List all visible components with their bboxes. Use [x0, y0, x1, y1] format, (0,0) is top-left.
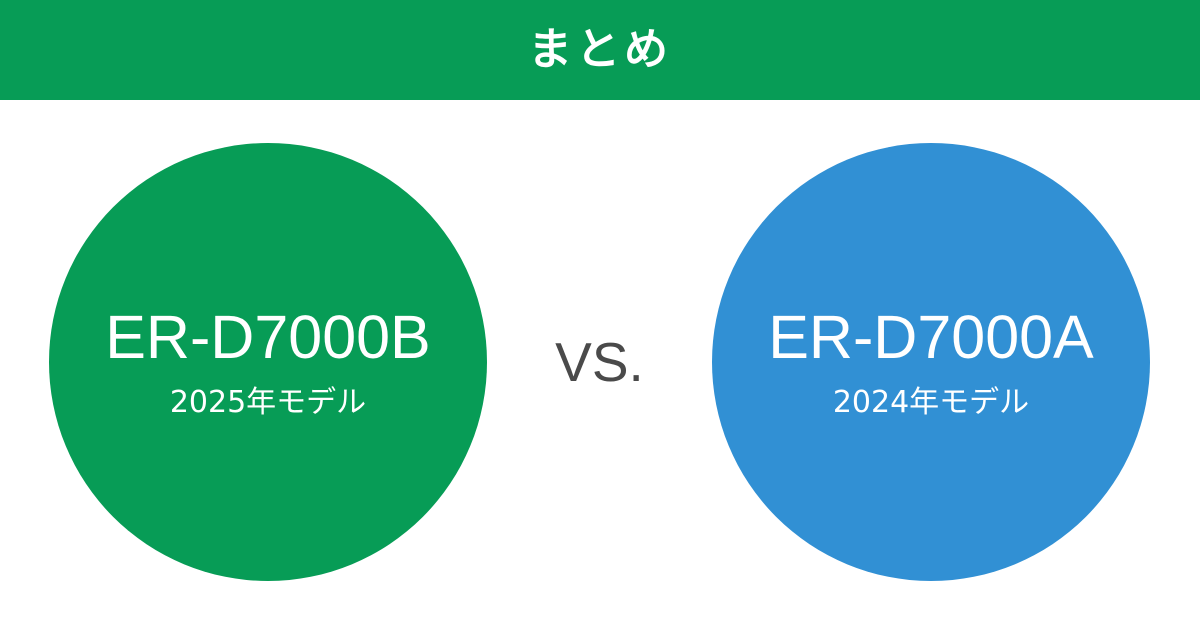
model-name-right: ER-D7000A — [768, 307, 1094, 368]
vs-label: VS. — [487, 143, 712, 581]
model-name-left: ER-D7000B — [105, 307, 431, 368]
model-year-right: 2024年モデル — [833, 388, 1029, 418]
header-bar: まとめ — [0, 0, 1200, 100]
page-title: まとめ — [528, 28, 672, 72]
product-circle-left: ER-D7000B 2025年モデル — [49, 143, 487, 581]
model-year-left: 2025年モデル — [170, 388, 366, 418]
comparison-infographic: まとめ ER-D7000B 2025年モデル VS. ER-D7000A 202… — [0, 0, 1200, 630]
product-circle-right: ER-D7000A 2024年モデル — [712, 143, 1150, 581]
comparison-stage: ER-D7000B 2025年モデル VS. ER-D7000A 2024年モデ… — [0, 100, 1200, 630]
